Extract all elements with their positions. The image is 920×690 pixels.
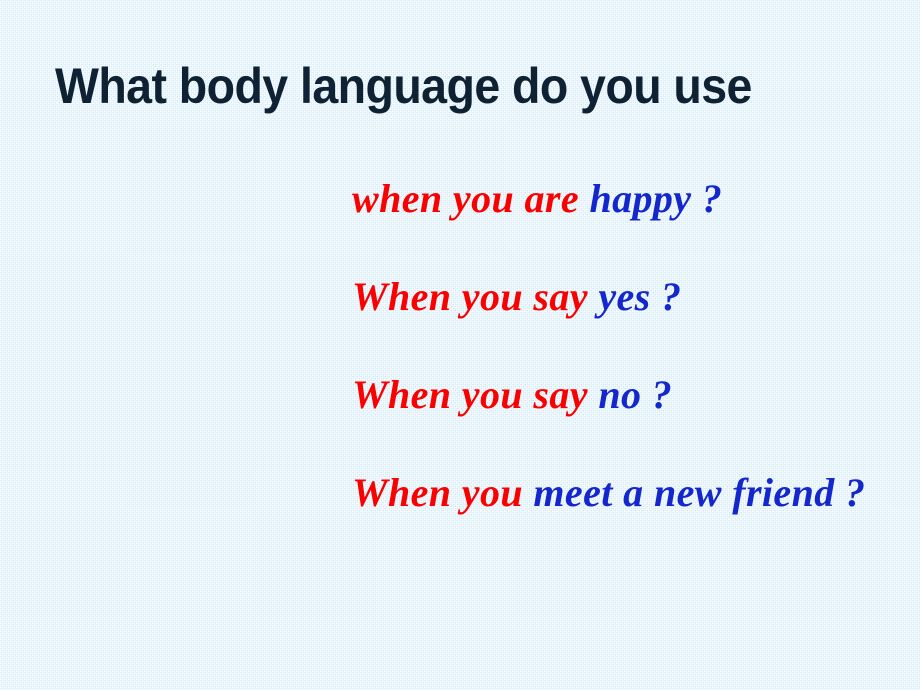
question-line-happy-blue-segment: happy ? — [589, 176, 722, 221]
question-line-yes-blue-segment: yes ? — [598, 274, 681, 319]
question-line-new-friend: When you meet a new friend ? — [352, 444, 897, 542]
question-line-no: When you say no ? — [352, 346, 897, 444]
question-line-new-friend-red-segment: When you — [352, 470, 533, 515]
question-line-new-friend-blue-segment: meet a new friend ? — [533, 470, 865, 515]
question-line-happy: when you are happy ? — [352, 150, 897, 248]
page-title: What body language do you use — [55, 58, 818, 114]
question-line-yes: When you say yes ? — [352, 248, 897, 346]
question-line-yes-red-segment: When you say — [352, 274, 598, 319]
question-list: when you are happy ? When you say yes ? … — [352, 150, 897, 542]
question-line-no-red-segment: When you say — [352, 372, 598, 417]
question-line-happy-red-segment: when you are — [352, 176, 589, 221]
slide-canvas: What body language do you use when you a… — [0, 0, 920, 690]
question-line-no-blue-segment: no ? — [598, 372, 672, 417]
